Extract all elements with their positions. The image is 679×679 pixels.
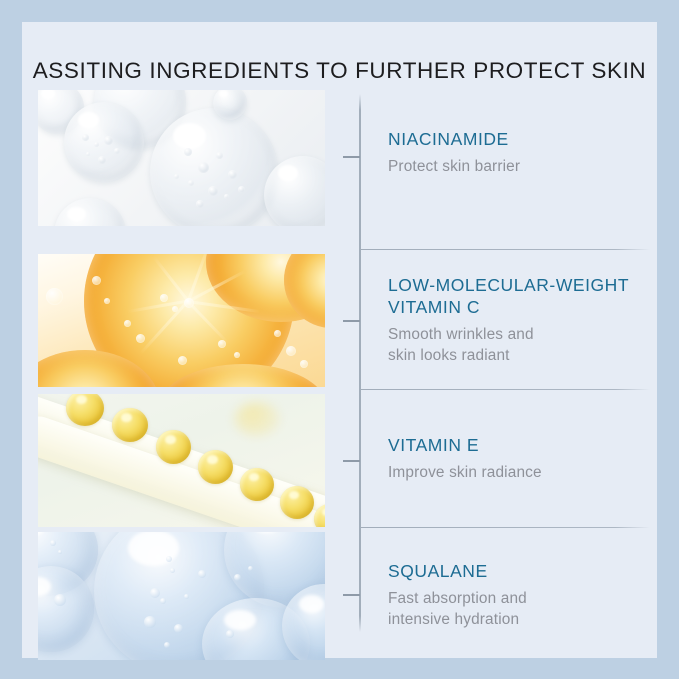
ingredient-row: NIACINAMIDE Protect skin barrier — [38, 90, 642, 226]
ingredient-image-vitamin-e — [38, 394, 325, 527]
ingredient-text: LOW-MOLECULAR-WEIGHT VITAMIN C Smooth wr… — [388, 274, 656, 366]
ingredient-description: Smooth wrinkles and skin looks radiant — [388, 324, 656, 366]
ingredient-row: SQUALANE Fast absorption and intensive h… — [38, 532, 642, 660]
ingredient-name: LOW-MOLECULAR-WEIGHT VITAMIN C — [388, 274, 656, 318]
row-separator — [361, 389, 650, 390]
row-separator — [361, 527, 650, 528]
ingredient-image-squalane — [38, 532, 325, 660]
ingredient-description: Fast absorption and intensive hydration — [388, 588, 656, 630]
ingredient-image-vitamin-c — [38, 254, 325, 387]
row-tick — [343, 156, 360, 158]
ingredient-row: LOW-MOLECULAR-WEIGHT VITAMIN C Smooth wr… — [38, 254, 642, 387]
ingredient-text: NIACINAMIDE Protect skin barrier — [388, 128, 656, 177]
gel-artwork — [38, 532, 325, 660]
ingredient-list: NIACINAMIDE Protect skin barrier — [38, 90, 642, 636]
page-title: ASSITING INGREDIENTS TO FURTHER PROTECT … — [22, 58, 657, 84]
ingredient-description: Improve skin radiance — [388, 462, 656, 483]
ingredient-text: SQUALANE Fast absorption and intensive h… — [388, 560, 656, 630]
ingredient-text: VITAMIN E Improve skin radiance — [388, 434, 656, 483]
row-separator — [361, 249, 650, 250]
bubbles-artwork — [38, 90, 325, 226]
ingredient-image-niacinamide — [38, 90, 325, 226]
capsules-artwork — [38, 394, 325, 527]
ingredient-name: VITAMIN E — [388, 434, 656, 456]
ingredient-name: NIACINAMIDE — [388, 128, 656, 150]
row-tick — [343, 594, 360, 596]
ingredient-description: Protect skin barrier — [388, 156, 656, 177]
row-tick — [343, 460, 360, 462]
ingredient-row: VITAMIN E Improve skin radiance — [38, 394, 642, 527]
infographic-panel: ASSITING INGREDIENTS TO FURTHER PROTECT … — [22, 22, 657, 658]
citrus-artwork — [38, 254, 325, 387]
row-tick — [343, 320, 360, 322]
ingredient-name: SQUALANE — [388, 560, 656, 582]
